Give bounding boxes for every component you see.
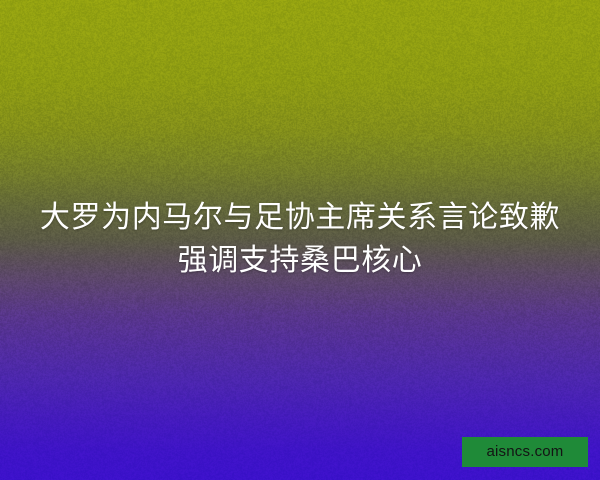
- cover-image-canvas: 大罗为内马尔与足协主席关系言论致歉 强调支持桑巴核心 aisncs.com: [0, 0, 600, 480]
- watermark-label: aisncs.com: [486, 443, 563, 460]
- headline-text: 大罗为内马尔与足协主席关系言论致歉 强调支持桑巴核心: [0, 196, 600, 282]
- watermark-badge: aisncs.com: [462, 437, 588, 467]
